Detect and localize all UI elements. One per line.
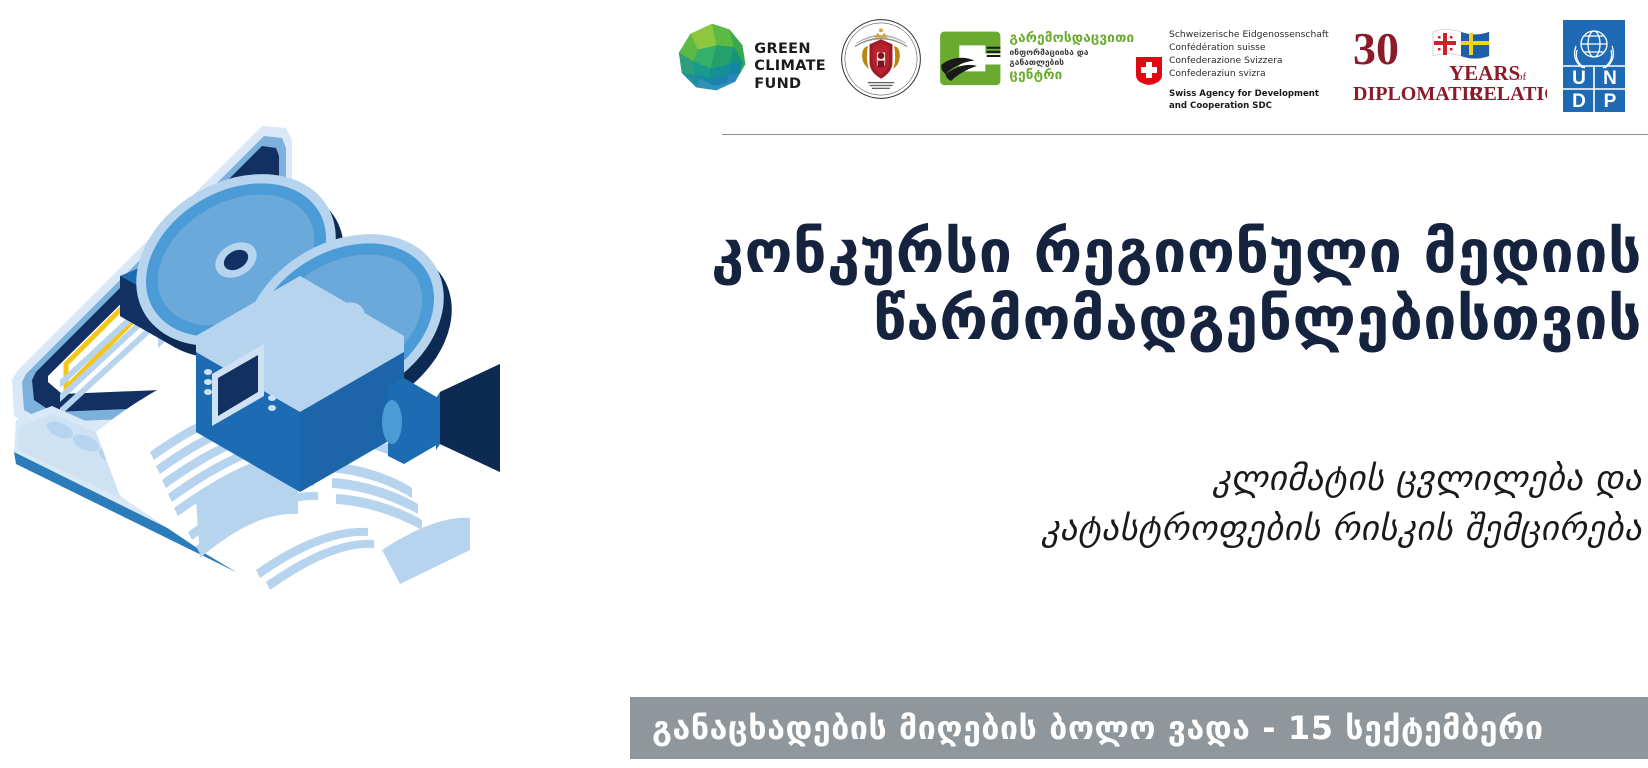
globe-polygon-icon (676, 14, 748, 100)
subtitle-line-2: კატასტროფების რისკის შემცირება (640, 505, 1642, 555)
eiec-line-2: ინფორმაციისა და განათლების (1010, 47, 1136, 68)
logo-30-years-diplomatic-relations: 30 YEARS of (1351, 14, 1551, 104)
logo-undp: U N D P (1551, 14, 1637, 112)
svg-text:DIPLOMATIC: DIPLOMATIC (1353, 83, 1484, 104)
header-divider (722, 134, 1648, 135)
svg-text:30: 30 (1353, 24, 1399, 74)
logo-strip: GREEN CLIMATE FUND (676, 14, 1648, 118)
undp-letter-u: U (1572, 68, 1586, 89)
sdc-agency-line-1: Swiss Agency for Development (1169, 89, 1329, 101)
undp-letter-d: D (1572, 91, 1586, 112)
svg-text:of: of (1517, 71, 1527, 83)
sdc-wordmark: Schweizerische Eidgenossenschaft Confédé… (1169, 28, 1329, 112)
sdc-lang-fr: Confédération suisse (1169, 41, 1329, 54)
gcf-wordmark: GREEN CLIMATE FUND (754, 41, 826, 92)
logo-national-environmental-agency (826, 14, 936, 100)
eiec-wordmark: გარემოსდაცვითი ინფორმაციისა და განათლები… (1010, 30, 1136, 84)
page-title: კონკურსი რეგიონული მედიის წარმომადგენლებ… (640, 218, 1648, 353)
flags-georgia-sweden-icon: 30 YEARS of (1351, 24, 1547, 104)
coat-of-arms-seal-icon (840, 18, 922, 100)
svg-text:RELATIONS: RELATIONS (1469, 83, 1547, 104)
headline-line-1: კონკურსი რეგიონული მედიის (640, 218, 1642, 285)
svg-text:YEARS: YEARS (1449, 61, 1520, 85)
eiec-line-1: გარემოსდაცვითი (1010, 30, 1136, 47)
logo-environmental-info-education-centre: გარემოსდაცვითი ინფორმაციისა და განათლები… (936, 14, 1136, 90)
hero-illustration (0, 80, 690, 640)
un-laurel-globe-icon: U N D P (1563, 20, 1625, 112)
logo-swiss-agency-sdc: Schweizerische Eidgenossenschaft Confédé… (1136, 14, 1351, 112)
gcf-line-2: CLIMATE (754, 58, 826, 75)
headline-line-2: წარმომადგენლებისთვის (640, 285, 1642, 352)
leaf-book-icon (936, 24, 1005, 90)
sdc-agency-line-2: and Cooperation SDC (1169, 101, 1329, 113)
deadline-text: განაცხადების მიღების ბოლო ვადა - 15 სექტ… (630, 709, 1544, 747)
gcf-line-1: GREEN (754, 41, 826, 58)
sdc-lang-it: Confederazione Svizzera (1169, 54, 1329, 67)
sdc-lang-rm: Confederaziun svizra (1169, 67, 1329, 80)
gcf-line-3: FUND (754, 76, 826, 93)
swiss-cross-icon (1136, 57, 1162, 85)
sdc-lang-de: Schweizerische Eidgenossenschaft (1169, 28, 1329, 41)
undp-letter-p: P (1604, 91, 1617, 112)
undp-letter-n: N (1603, 68, 1617, 89)
subtitle-line-1: კლიმატის ცვლილება და (640, 455, 1642, 505)
deadline-banner: განაცხადების მიღების ბოლო ვადა - 15 სექტ… (630, 697, 1648, 759)
eiec-line-3: ცენტრი (1010, 67, 1136, 84)
logo-green-climate-fund: GREEN CLIMATE FUND (676, 14, 826, 100)
page-subtitle: კლიმატის ცვლილება და კატასტროფების რისკი… (640, 455, 1648, 554)
